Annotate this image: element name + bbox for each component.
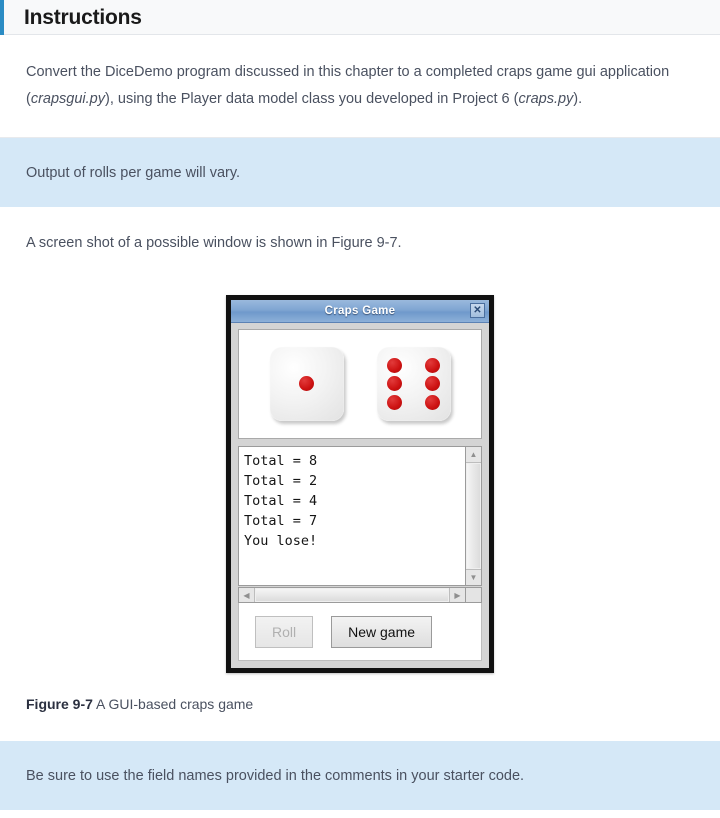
note-output-text: Output of rolls per game will vary. [26, 138, 691, 207]
output-text: Total = 8 Total = 2 Total = 4 Total = 7 … [238, 446, 466, 586]
new-game-button[interactable]: New game [331, 616, 432, 648]
page-title: Instructions [24, 7, 142, 28]
instructions-page: Instructions Convert the DiceDemo progra… [0, 0, 720, 818]
scroll-up-icon[interactable]: ▲ [466, 447, 481, 463]
section-note-output: Output of rolls per game will vary. [0, 138, 720, 208]
horizontal-scroll-thumb[interactable] [256, 589, 448, 601]
window-titlebar: Craps Game ✕ [231, 300, 489, 323]
filename-craps: craps.py [518, 91, 573, 107]
screenshot-intro-text: A screen shot of a possible window is sh… [26, 208, 691, 277]
roll-button[interactable]: Roll [255, 616, 313, 648]
note-fields-text: Be sure to use the field names provided … [26, 741, 691, 810]
figure-caption-text: A GUI-based craps game [93, 696, 253, 712]
die-left[interactable] [270, 347, 344, 421]
pip [425, 376, 440, 391]
scroll-right-icon[interactable]: ▶ [449, 588, 465, 602]
figure-container: Craps Game ✕ [0, 277, 720, 741]
instructions-header: Instructions [0, 0, 720, 35]
intro-part2: ), using the Player data model class you… [105, 91, 518, 107]
die-right[interactable] [377, 347, 451, 421]
output-row: Total = 8 Total = 2 Total = 4 Total = 7 … [238, 446, 482, 586]
intro-part3: ). [573, 91, 582, 107]
vertical-scroll-thumb[interactable] [467, 464, 480, 568]
pip [387, 376, 402, 391]
filename-crapsgui: crapsgui.py [31, 91, 105, 107]
scroll-down-icon[interactable]: ▼ [466, 569, 481, 585]
header-accent-bar [0, 0, 4, 35]
figure-caption: Figure 9-7 A GUI-based craps game [26, 683, 694, 741]
pip [425, 358, 440, 373]
dice-panel [238, 329, 482, 439]
figure-caption-label: Figure 9-7 [26, 696, 93, 712]
section-note-fields: Be sure to use the field names provided … [0, 741, 720, 810]
intro-paragraph: Convert the DiceDemo program discussed i… [26, 35, 691, 137]
craps-game-window: Craps Game ✕ [226, 295, 494, 673]
close-glyph: ✕ [473, 306, 481, 316]
pip [387, 358, 402, 373]
horizontal-scrollbar[interactable]: ◀ ▶ [238, 587, 466, 603]
scroll-left-icon[interactable]: ◀ [239, 588, 255, 602]
button-bar: Roll New game [238, 603, 482, 661]
window-body: Total = 8 Total = 2 Total = 4 Total = 7 … [231, 323, 489, 668]
die-left-pips [279, 356, 335, 412]
scrollbar-corner [466, 587, 482, 603]
section-intro-paragraph: Convert the DiceDemo program discussed i… [0, 35, 720, 138]
close-icon[interactable]: ✕ [470, 303, 485, 318]
pip [299, 376, 314, 391]
pip [425, 395, 440, 410]
output-area: Total = 8 Total = 2 Total = 4 Total = 7 … [238, 446, 482, 603]
window-title: Craps Game [325, 305, 396, 317]
die-right-pips [386, 356, 442, 412]
vertical-scrollbar[interactable]: ▲ ▼ [466, 446, 482, 586]
figure-image: Craps Game ✕ [26, 277, 694, 683]
section-screenshot-intro: A screen shot of a possible window is sh… [0, 208, 720, 277]
horizontal-scroll-row: ◀ ▶ [238, 587, 482, 603]
pip [387, 395, 402, 410]
